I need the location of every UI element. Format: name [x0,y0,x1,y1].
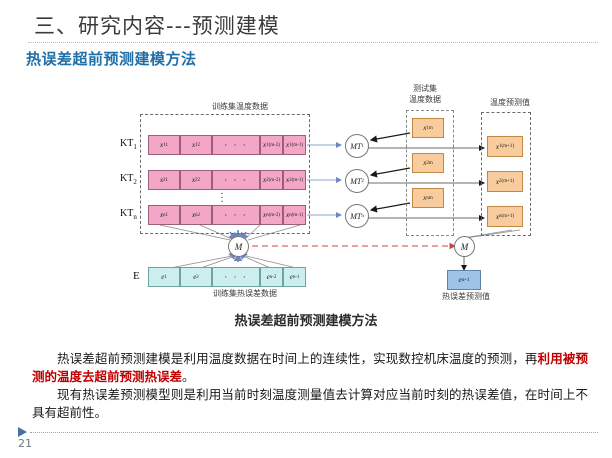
temp-cell: xn1 [148,205,180,225]
figure-caption: 热误差超前预测建模方法 [0,310,612,329]
box-sub: 2(m+1) [499,179,514,184]
footer-triangle-icon [18,427,27,437]
cell-sub: 2(m-1) [289,178,303,183]
temp-cell: x22 [180,170,212,190]
slide-root: 三、研究内容---预测建模 热误差超前预测建模方法 [0,0,612,458]
temp-cell-ellipsis: · · · [212,135,260,155]
error-cell-ellipsis: · · · [212,267,260,287]
label-train-error: 训练集热误差数据 [190,289,300,299]
temp-cell: x2(m-1) [283,170,306,190]
paragraph-1: 热误差超前预测建模是利用温度数据在时间上的连续性，实现数控机床温度的预测，再利用… [32,350,588,386]
box-sub: 2m [426,161,432,166]
temp-cell: x1(m-2) [260,135,283,155]
cell-sub: 1 [164,275,167,280]
row-label-kt1: KT1 [120,138,137,151]
title-divider [28,42,598,43]
page-title: 三、研究内容---预测建模 [34,10,280,40]
temp-cell: xn2 [180,205,212,225]
row-ellipsis-vertical: ··· [215,193,229,205]
error-cell: en-1 [283,267,306,287]
node-base: M [461,242,469,252]
page-number: 21 [18,437,32,450]
label-train-temp: 训练集温度数据 [185,102,295,112]
temp-cell: xn(m-2) [260,205,283,225]
cell-sub: 1(m-2) [266,143,280,148]
temp-row-n: xn1 xn2 · · · xn(m-2) xn(m-1) [148,205,306,225]
pred-temp-box-2: x2(m+1) [487,171,523,192]
cell-sub: 12 [195,143,200,148]
cell-sub: n1 [163,213,168,218]
row-label-kt1-sub: 1 [133,143,137,151]
pred-temp-box-1: x1(m+1) [487,136,523,157]
temp-row-2: x21 x22 · · · x2(m-2) x2(m-1) [148,170,306,190]
cell-sub: 21 [163,178,168,183]
temp-cell: x21 [148,170,180,190]
p1-part-b: 。 [182,370,195,384]
model-node-mt2: MT2 [345,169,369,193]
temp-cell-ellipsis: · · · [212,205,260,225]
label-test-temp-1: 测试集 [395,84,455,94]
node-base: M [235,242,243,252]
row-label-kt1-base: KT [120,138,133,149]
box-sub: n+1 [462,278,470,283]
error-cell: en-2 [260,267,283,287]
section-subtitle: 热误差超前预测建模方法 [26,48,197,69]
cell-sub: 2(m-2) [266,178,280,183]
cell-sub: n-2 [270,275,277,280]
row-label-ktn: KTn [120,208,137,221]
label-test-temp-2: 温度数据 [393,95,457,105]
node-base: MT [350,212,361,221]
label-temp-pred: 温度预测值 [470,98,550,108]
label-error-pred: 热误差预测值 [424,292,508,302]
cell-sub: n(m-2) [266,213,280,218]
row-label-kt2: KT2 [120,173,137,186]
node-base: MT [350,177,361,186]
box-sub: 1m [426,126,432,131]
error-row: e1 e2 · · · en-2 en-1 [148,267,306,287]
error-cell: e1 [148,267,180,287]
row-label-e: E [133,270,140,282]
cell-sub: 22 [195,178,200,183]
temp-cell: x1(m-1) [283,135,306,155]
row-label-ktn-sub: n [133,213,137,221]
temp-cell: x2(m-2) [260,170,283,190]
temp-cell: x11 [148,135,180,155]
error-pred-box: en+1 [447,270,481,290]
cell-sub: 1(m-1) [289,143,303,148]
modeling-diagram: 训练集温度数据 测试集 温度数据 温度预测值 训练集热误差数据 热误差预测值 K… [0,80,612,330]
model-node-mt1: MT1 [345,134,369,158]
temp-row-1: x11 x12 · · · x1(m-2) x1(m-1) [148,135,306,155]
node-base: MT [350,142,361,151]
test-temp-box-1: x1m [412,118,444,138]
node-sub: 1 [361,144,364,149]
fusion-node-m: M [228,236,249,257]
test-temp-box-n: xnm [412,188,444,208]
cell-sub: n2 [195,213,200,218]
row-label-kt2-sub: 2 [133,178,137,186]
paragraph-2: 现有热误差预测模型则是利用当前时刻温度测量值去计算对应当前时刻的热误差值，在时间… [32,386,588,422]
temp-cell: x12 [180,135,212,155]
body-text: 热误差超前预测建模是利用温度数据在时间上的连续性，实现数控机床温度的预测，再利用… [32,350,588,422]
cell-sub: 11 [163,143,168,148]
error-cell: e2 [180,267,212,287]
p1-part-a: 热误差超前预测建模是利用温度数据在时间上的连续性，实现数控机床温度的预测，再 [57,352,538,366]
row-label-ktn-base: KT [120,208,133,219]
node-sub: 2 [361,179,364,184]
test-temp-box-2: x2m [412,153,444,173]
box-sub: nm [426,196,432,201]
node-sub: n [361,214,364,219]
cell-sub: n-1 [293,275,300,280]
box-sub: 1(m+1) [499,144,514,149]
box-sub: n(m+1) [499,214,514,219]
pred-temp-box-n: xn(m+1) [487,206,523,227]
temp-cell: xn(m-1) [283,205,306,225]
model-node-mtn: MTn [345,204,369,228]
temp-cell-ellipsis: · · · [212,170,260,190]
cell-sub: 2 [196,275,199,280]
row-label-kt2-base: KT [120,173,133,184]
footer-divider [30,432,598,433]
output-node-m: M [454,236,475,257]
cell-sub: n(m-1) [289,213,303,218]
